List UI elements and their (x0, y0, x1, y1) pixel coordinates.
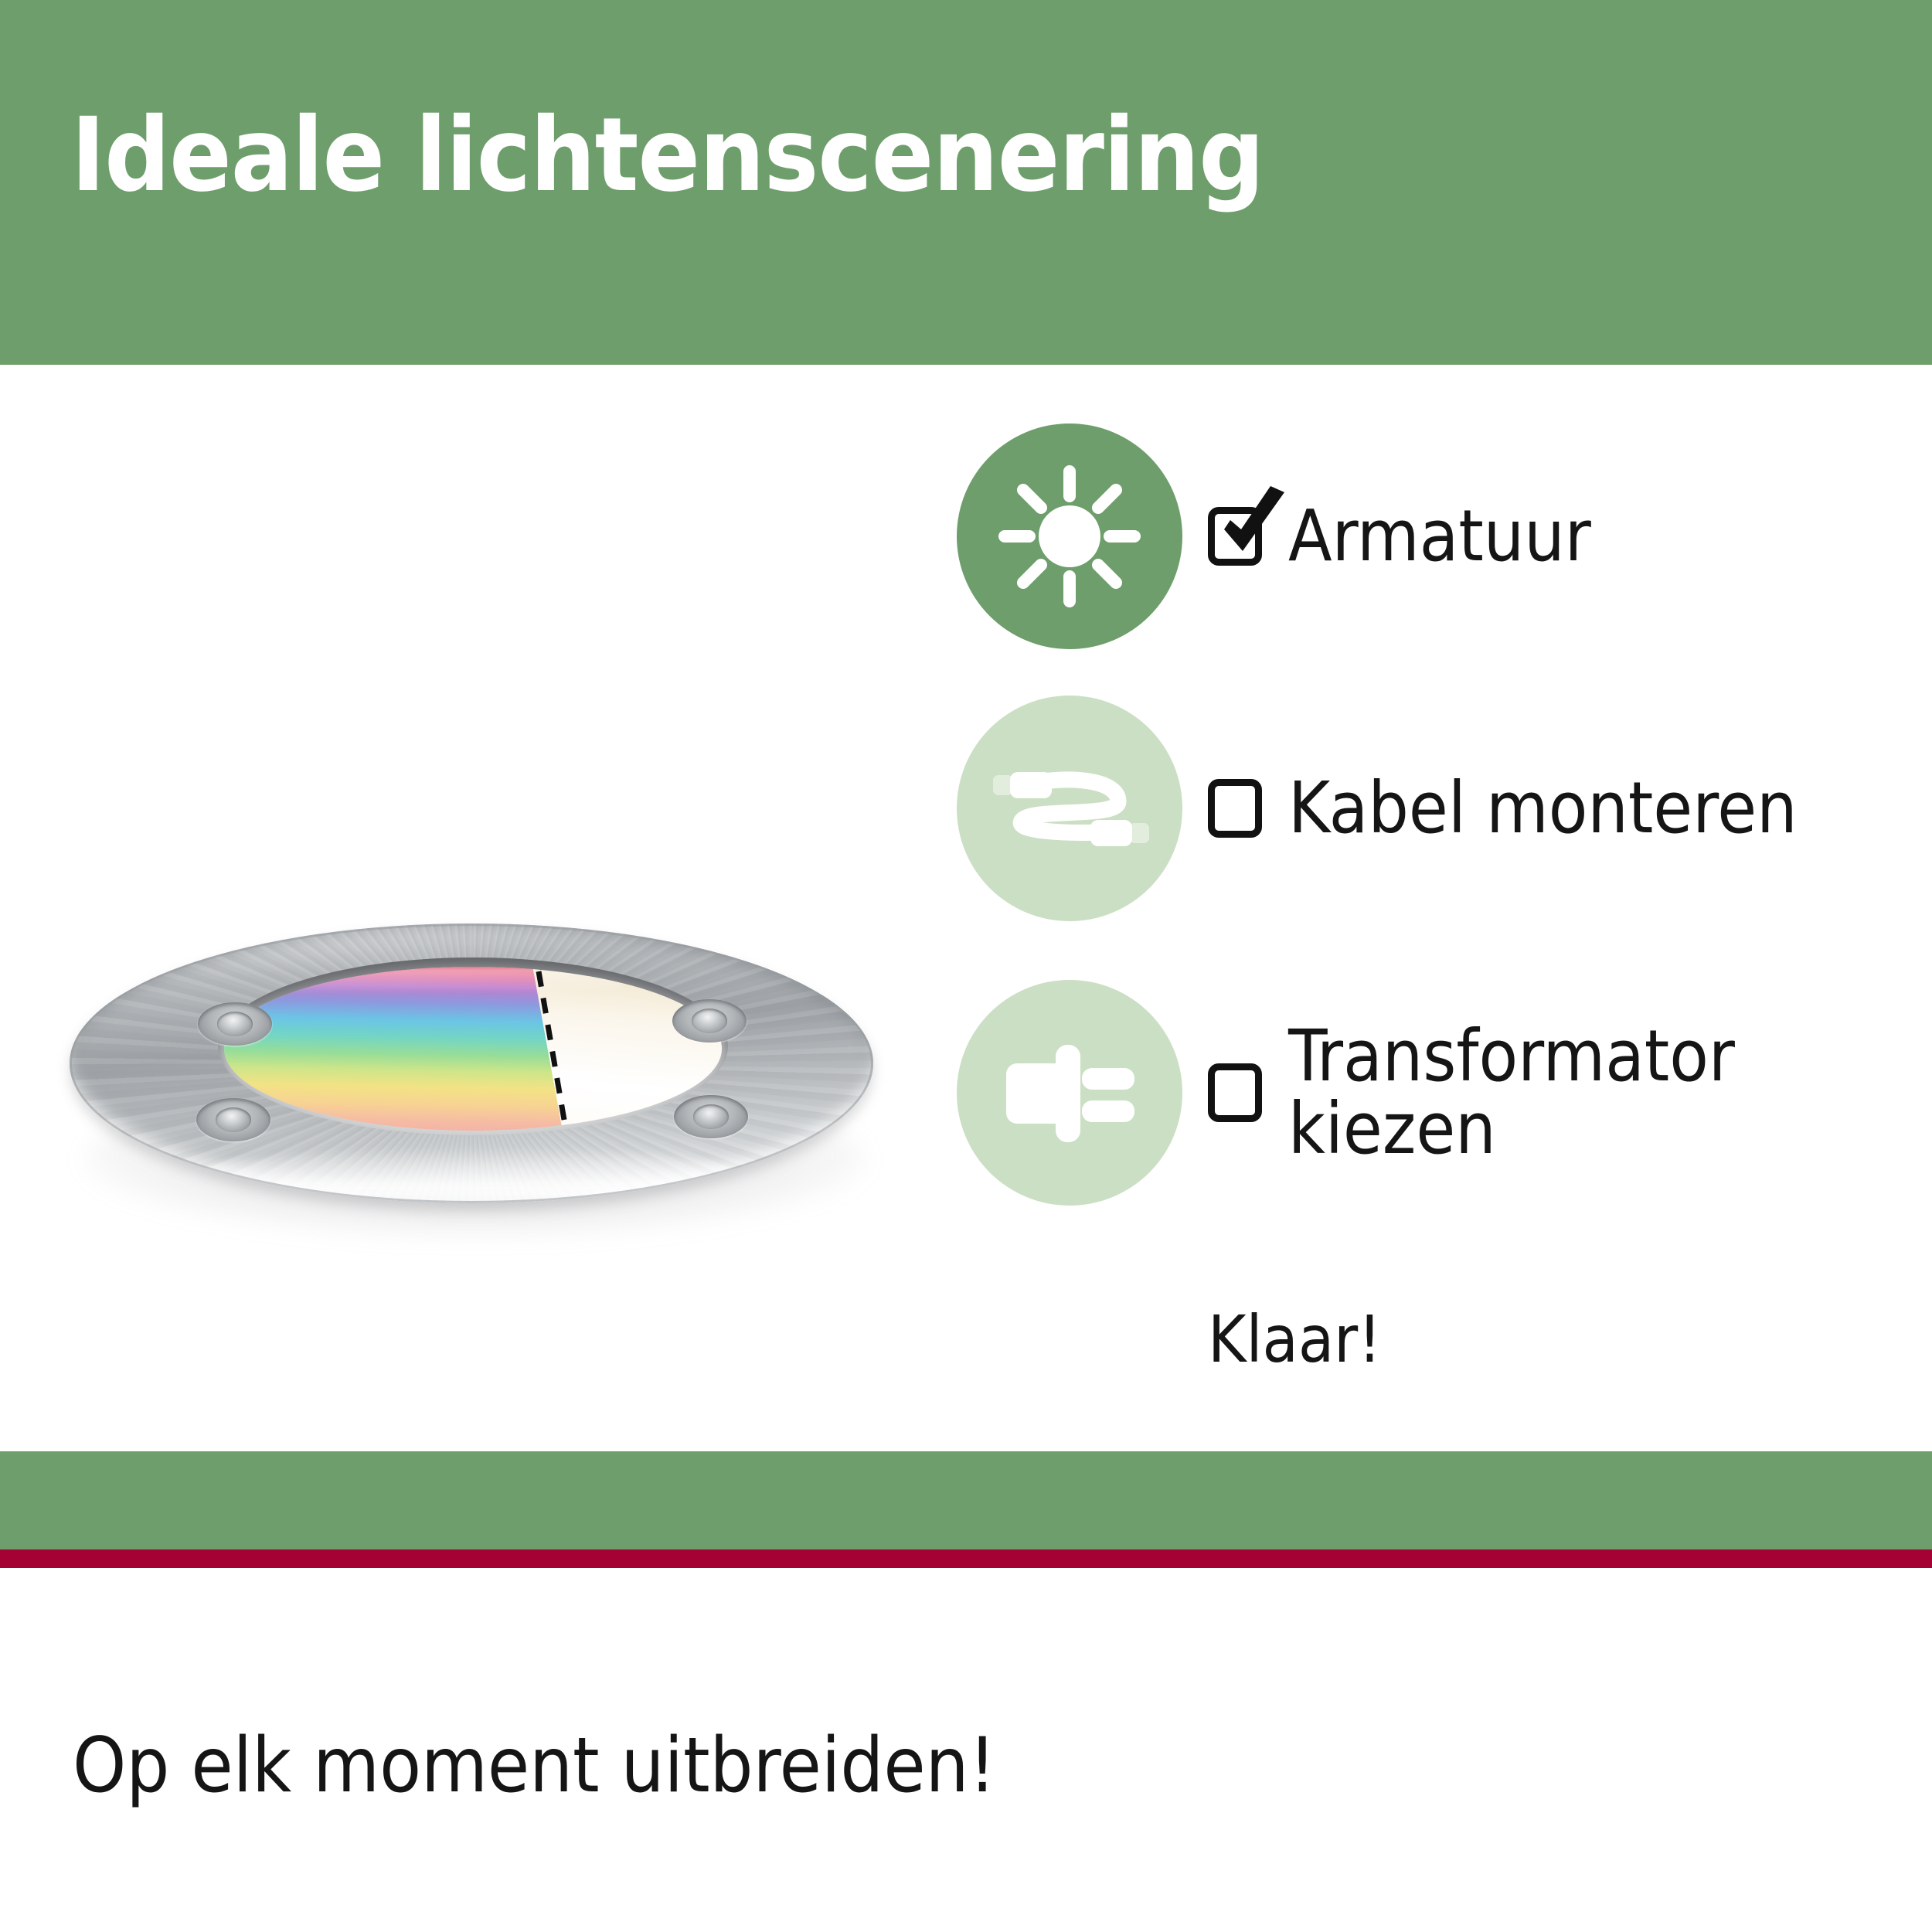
product-image (54, 916, 896, 1240)
checklist-item-transformator-body: Transformator kiezen (1208, 980, 1735, 1206)
sun-icon (992, 459, 1147, 614)
checkbox-kabel-monteren[interactable] (1208, 779, 1262, 838)
checklist-item-transformator-label: Transformator kiezen (1288, 1020, 1735, 1165)
plug-icon-badge (957, 980, 1182, 1206)
cable-icon (988, 727, 1151, 889)
checklist-item-transformator[interactable]: Transformator kiezen (957, 980, 1907, 1252)
checkbox-transformator-kiezen[interactable] (1208, 1063, 1262, 1122)
checklist-item-kabel-body: Kabel monteren (1208, 696, 1798, 921)
spotlight-lens (224, 967, 722, 1131)
bezel-screw-top-left (198, 1002, 272, 1046)
checklist-item-kabel-label: Kabel monteren (1288, 772, 1798, 845)
checklist-item-kabel[interactable]: Kabel monteren (957, 696, 1907, 980)
bezel-screw-bottom-right (674, 1095, 748, 1138)
ready-label: Klaar! (1208, 1301, 1381, 1377)
footer-red-band (0, 1549, 1932, 1568)
checklist-item-armatuur-body: Armatuur (1208, 423, 1591, 649)
checklist-item-armatuur[interactable]: Armatuur (957, 423, 1907, 696)
lens-glint (254, 967, 623, 993)
checkbox-armatuur[interactable] (1208, 507, 1262, 566)
installation-checklist: Armatuur Kabel monteren (957, 423, 1907, 1252)
check-icon (1204, 481, 1297, 574)
footer-green-band (0, 1451, 1932, 1549)
cable-icon-badge (957, 696, 1182, 921)
sun-icon-badge (957, 423, 1182, 649)
spotlight-lens-recess (218, 957, 728, 1135)
bezel-screw-top-right (672, 999, 747, 1043)
footer-tagline: Op elk moment uitbreiden! (73, 1722, 996, 1810)
page-title: Ideale lichtenscenering (71, 102, 1264, 209)
checklist-item-armatuur-label: Armatuur (1288, 500, 1591, 573)
bezel-screw-bottom-left (196, 1098, 270, 1141)
plug-icon (992, 1015, 1147, 1170)
